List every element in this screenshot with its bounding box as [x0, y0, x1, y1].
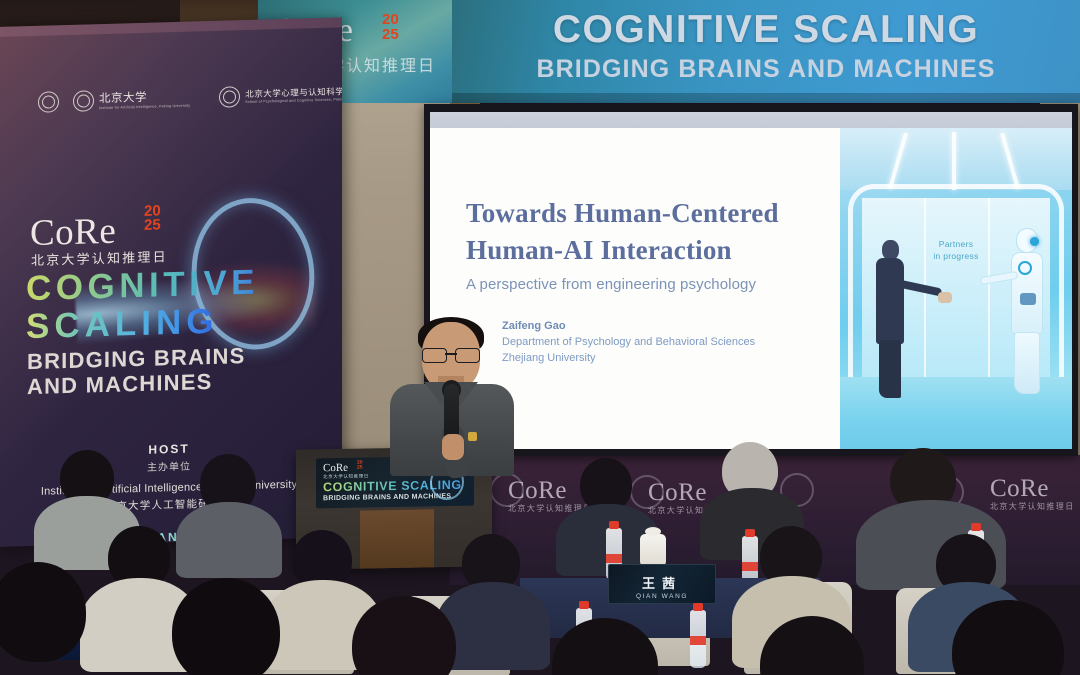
- handshake-hands: [938, 292, 952, 303]
- water-bottle: [690, 610, 706, 668]
- institute-ai-seal-icon: [73, 90, 94, 112]
- school-psychology-seal-icon: [219, 86, 240, 108]
- eyeglasses-icon: [912, 452, 932, 459]
- illustration-ceiling: [840, 128, 1072, 190]
- businessman-head: [882, 240, 899, 260]
- robot-panel: [1020, 293, 1036, 305]
- banner-title: COGNITIVE SCALING: [452, 8, 1080, 52]
- speaker-glasses-icon: [422, 348, 480, 361]
- top-banner: COGNITIVE SCALING BRIDGING BRAINS AND MA…: [452, 0, 1080, 103]
- audience-shoulders: [176, 502, 282, 578]
- illustration-robot: [1008, 228, 1052, 404]
- tea-cup: [640, 534, 666, 568]
- slide-title-line2: Human-AI Interaction: [466, 235, 732, 266]
- robot-torso: [1011, 252, 1043, 334]
- ceiling-light-beam: [952, 132, 956, 190]
- banner-subtitle: BRIDGING BRAINS AND MACHINES: [452, 55, 1080, 84]
- poster-logo-row: 北京大学 Institute for Artificial Intelligen…: [38, 76, 328, 120]
- slide-title-line1: Towards Human-Centered: [466, 198, 779, 229]
- placard-name-chinese: 王茜: [609, 573, 715, 592]
- robot-head: [1016, 228, 1038, 253]
- illustration-businessman: [874, 240, 908, 400]
- conference-photo-scene: CoRe 20 25 北京大学认知推理日 COGNITIVE SCALING B…: [0, 0, 1080, 675]
- poster-year: 20 25: [144, 204, 161, 232]
- institute-ai-logo: 北京大学 Institute for Artificial Intelligen…: [73, 87, 190, 111]
- school-psychology-logo: 北京大学心理与认知科学学院 School of Psychological an…: [219, 82, 342, 107]
- slide-affiliation-line1: Department of Psychology and Behavioral …: [502, 336, 755, 348]
- placard-name-pinyin: QIAN WANG: [609, 593, 715, 600]
- projection-screen: Towards Human-Centered Human-AI Interact…: [430, 112, 1072, 449]
- window-mullion: [988, 198, 990, 388]
- peking-university-seal-icon: [38, 91, 59, 113]
- businessman-legs: [879, 340, 901, 398]
- robot-shoulder-circle: [1018, 261, 1032, 275]
- core-year: 20 25: [382, 12, 399, 42]
- poster-line-cognitive: COGNITIVE: [26, 263, 259, 310]
- slide-subtitle: A perspective from engineering psycholog…: [466, 276, 756, 293]
- robot-eye: [1030, 237, 1039, 246]
- poster-line-scaling: SCALING: [26, 302, 219, 347]
- audience-head: [172, 578, 280, 675]
- poster-line-machines: AND MACHINES: [27, 369, 213, 400]
- audience-head: [0, 562, 86, 662]
- robot-legs: [1014, 332, 1040, 394]
- businessman-suit: [876, 258, 904, 344]
- slide-top-bar: [430, 112, 1072, 128]
- audience-area: 王茜 QIAN WANG: [0, 430, 1080, 675]
- slide-image-human-robot-handshake: Partners in progress: [840, 128, 1072, 449]
- name-placard: 王茜 QIAN WANG: [608, 564, 716, 604]
